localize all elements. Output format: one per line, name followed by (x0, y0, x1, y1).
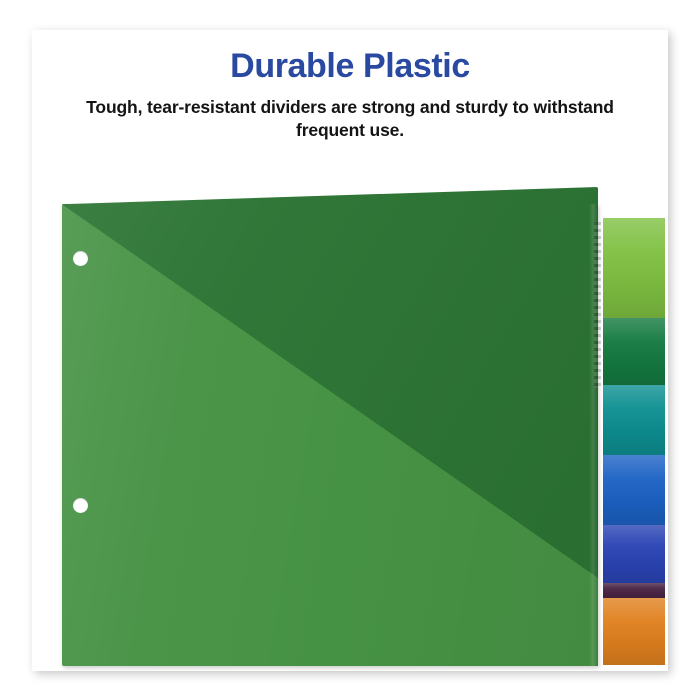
tab-1-lime-green (603, 218, 665, 318)
tab-6-purple (603, 583, 665, 598)
tab-7-orange (603, 598, 665, 665)
page-subtitle: Tough, tear-resistant dividers are stron… (32, 96, 668, 142)
page-title: Durable Plastic (32, 46, 668, 86)
bottom-binder-hole (73, 498, 88, 513)
marketing-headings: Durable Plastic Tough, tear-resistant di… (32, 46, 668, 142)
tab-5-royal-blue (603, 525, 665, 583)
tab-4-blue (603, 455, 665, 525)
tab-gloss-overlay (603, 318, 665, 385)
perforation-strip (594, 222, 601, 388)
product-image-stage: Durable Plastic Tough, tear-resistant di… (0, 0, 700, 700)
tab-gloss-overlay (603, 218, 665, 318)
tab-gloss-overlay (603, 583, 665, 598)
tab-gloss-overlay (603, 385, 665, 455)
tab-gloss-overlay (603, 598, 665, 665)
tab-3-teal (603, 385, 665, 455)
top-binder-hole (73, 251, 88, 266)
tab-2-dark-green (603, 318, 665, 385)
tab-gloss-overlay (603, 525, 665, 583)
tab-gloss-overlay (603, 455, 665, 525)
